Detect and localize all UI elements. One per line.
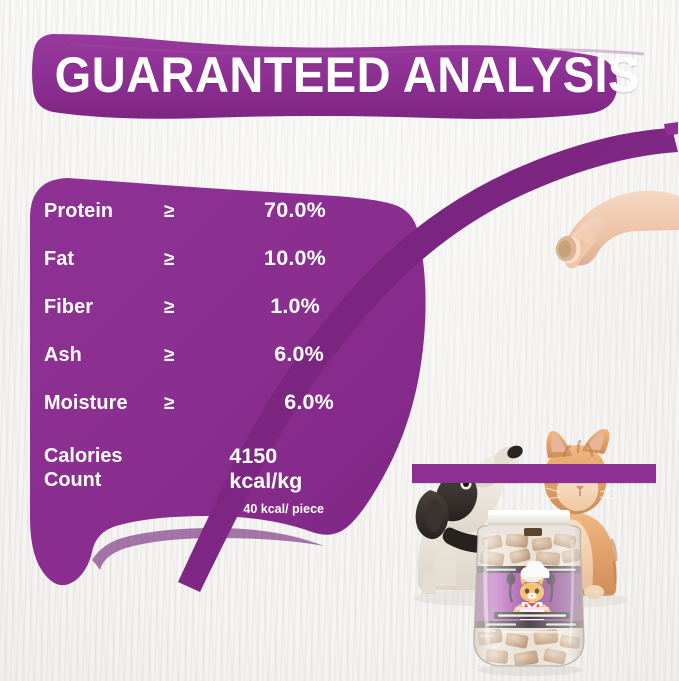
nutrient-label: Moisture <box>44 391 160 415</box>
operator-symbol: ≥ <box>164 393 224 415</box>
nutrient-value: 70.0% <box>224 198 334 223</box>
operator-symbol: ≥ <box>164 249 224 271</box>
operator-symbol: ≥ <box>164 201 224 223</box>
nutrient-value: 10.0% <box>224 246 334 271</box>
calories-value-line2: kcal/kg <box>229 469 324 494</box>
poster-canvas: GUARANTEED ANALYSIS Protein ≥ 70.0% Fat … <box>0 0 679 681</box>
table-row: Ash ≥ 6.0% <box>44 342 334 390</box>
calories-label-line2: Count <box>44 468 122 492</box>
calories-value-group: 4150 kcal/kg 40 kcal/ piece <box>229 444 334 516</box>
table-row: Protein ≥ 70.0% <box>44 198 334 246</box>
operator-symbol: ≥ <box>164 345 224 367</box>
table-row: Moisture ≥ 6.0% <box>44 390 334 438</box>
guaranteed-analysis-table: Protein ≥ 70.0% Fat ≥ 10.0% Fiber ≥ 1.0%… <box>44 198 334 438</box>
nutrient-label: Fiber <box>44 295 160 319</box>
nutrient-value: 6.0% <box>224 390 334 415</box>
nutrient-label: Ash <box>44 343 160 367</box>
nutrient-label: Fat <box>44 247 160 271</box>
nutrient-value: 6.0% <box>224 342 334 367</box>
calories-row: Calories Count 4150 kcal/kg 40 kcal/ pie… <box>44 444 334 516</box>
calories-per-piece: 40 kcal/ piece <box>229 502 324 516</box>
calories-value-line1: 4150 <box>229 444 324 469</box>
table-row: Fat ≥ 10.0% <box>44 246 334 294</box>
operator-symbol: ≥ <box>164 297 224 319</box>
nutrient-label: Protein <box>44 199 160 223</box>
calories-label: Calories Count <box>44 444 125 492</box>
table-row: Fiber ≥ 1.0% <box>44 294 334 342</box>
calories-label-line1: Calories <box>44 444 122 468</box>
nutrient-value: 1.0% <box>224 294 334 319</box>
